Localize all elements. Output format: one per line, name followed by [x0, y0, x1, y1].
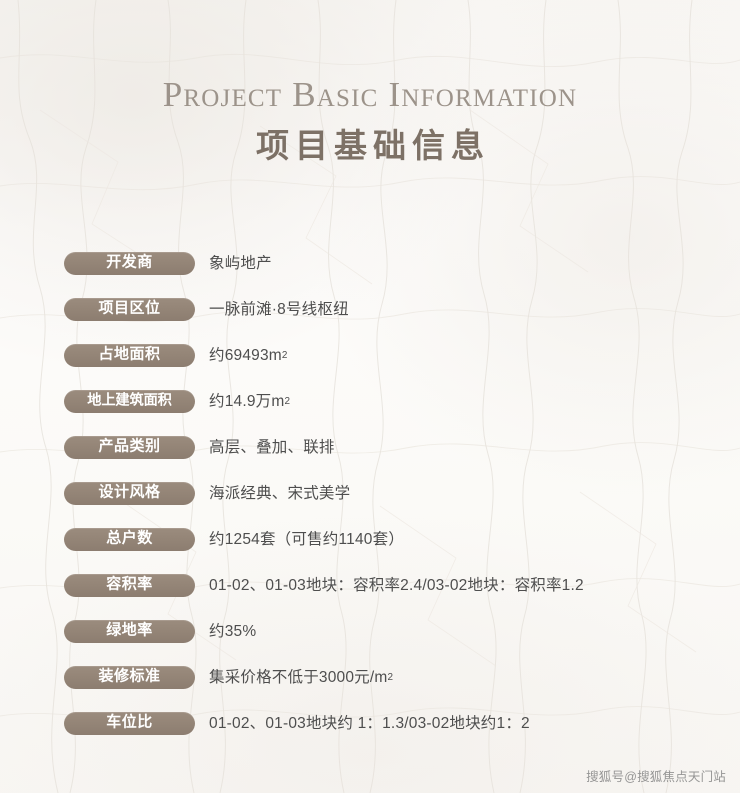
- info-value-text: 01-02、01-03地块：容积率2.4/03-02地块：容积率1.2: [209, 574, 584, 597]
- info-value-main: 约69493m: [209, 344, 282, 367]
- table-row: 容积率01-02、01-03地块：容积率2.4/03-02地块：容积率1.2: [64, 574, 724, 620]
- table-row: 绿地率约35%: [64, 620, 724, 666]
- info-value-text: 高层、叠加、联排: [209, 436, 335, 459]
- info-label-text: 开发商: [106, 256, 153, 271]
- info-value-text: 集采价格不低于3000元/m2: [209, 666, 393, 689]
- table-row: 设计风格海派经典、宋式美学: [64, 482, 724, 528]
- page-title-chinese: 项目基础信息: [0, 125, 740, 169]
- info-label-text: 车位比: [106, 716, 153, 731]
- info-value-main: 象屿地产: [209, 252, 272, 275]
- table-row: 装修标准集采价格不低于3000元/m2: [64, 666, 724, 712]
- info-label-text: 地上建筑面积: [87, 394, 172, 409]
- info-label-text: 绿地率: [106, 624, 153, 639]
- info-value-text: 约14.9万m2: [209, 390, 290, 413]
- info-label-text: 总户数: [106, 532, 153, 547]
- table-row: 车位比01-02、01-03地块约 1：1.3/03-02地块约1：2: [64, 712, 724, 758]
- watermark: 搜狐号@搜狐焦点天门站: [586, 769, 726, 785]
- info-value-main: 约1254套（可售约1140套）: [209, 528, 404, 551]
- info-value-text: 象屿地产: [209, 252, 272, 275]
- info-value-main: 约14.9万m: [209, 390, 284, 413]
- project-info-table: 开发商象屿地产项目区位一脉前滩·8号线枢纽占地面积约69493m2地上建筑面积约…: [64, 252, 724, 758]
- info-label-pill: 占地面积: [64, 344, 195, 367]
- info-value-main: 01-02、01-03地块：容积率2.4/03-02地块：容积率1.2: [209, 574, 584, 597]
- table-row: 地上建筑面积约14.9万m2: [64, 390, 724, 436]
- info-label-pill: 绿地率: [64, 620, 195, 643]
- page-title-english: Project Basic Information: [0, 74, 740, 116]
- info-value-main: 集采价格不低于3000元/m: [209, 666, 388, 689]
- table-row: 产品类别高层、叠加、联排: [64, 436, 724, 482]
- info-label-pill: 设计风格: [64, 482, 195, 505]
- info-value-main: 01-02、01-03地块约 1：1.3/03-02地块约1：2: [209, 712, 530, 735]
- info-label-pill: 项目区位: [64, 298, 195, 321]
- info-label-pill: 车位比: [64, 712, 195, 735]
- table-row: 总户数约1254套（可售约1140套）: [64, 528, 724, 574]
- info-label-text: 设计风格: [98, 486, 160, 501]
- info-label-pill: 装修标准: [64, 666, 195, 689]
- info-label-pill: 地上建筑面积: [64, 390, 195, 413]
- info-label-text: 产品类别: [98, 440, 160, 455]
- info-value-text: 约1254套（可售约1140套）: [209, 528, 404, 551]
- info-value-main: 高层、叠加、联排: [209, 436, 335, 459]
- info-value-text: 01-02、01-03地块约 1：1.3/03-02地块约1：2: [209, 712, 530, 735]
- info-value-text: 海派经典、宋式美学: [209, 482, 350, 505]
- info-label-pill: 开发商: [64, 252, 195, 275]
- info-label-text: 容积率: [106, 578, 153, 593]
- info-label-pill: 总户数: [64, 528, 195, 551]
- info-value-text: 一脉前滩·8号线枢纽: [209, 298, 349, 321]
- table-row: 开发商象屿地产: [64, 252, 724, 298]
- info-label-pill: 产品类别: [64, 436, 195, 459]
- info-label-text: 装修标准: [98, 670, 160, 685]
- info-value-main: 一脉前滩·8号线枢纽: [209, 298, 349, 321]
- info-value-text: 约35%: [209, 620, 256, 643]
- info-label-text: 占地面积: [98, 348, 160, 363]
- info-value-main: 海派经典、宋式美学: [209, 482, 350, 505]
- info-value-text: 约69493m2: [209, 344, 288, 367]
- info-label-text: 项目区位: [98, 302, 160, 317]
- page-root: Project Basic Information 项目基础信息 开发商象屿地产…: [0, 0, 740, 793]
- table-row: 项目区位一脉前滩·8号线枢纽: [64, 298, 724, 344]
- table-row: 占地面积约69493m2: [64, 344, 724, 390]
- info-value-main: 约35%: [209, 620, 256, 643]
- info-label-pill: 容积率: [64, 574, 195, 597]
